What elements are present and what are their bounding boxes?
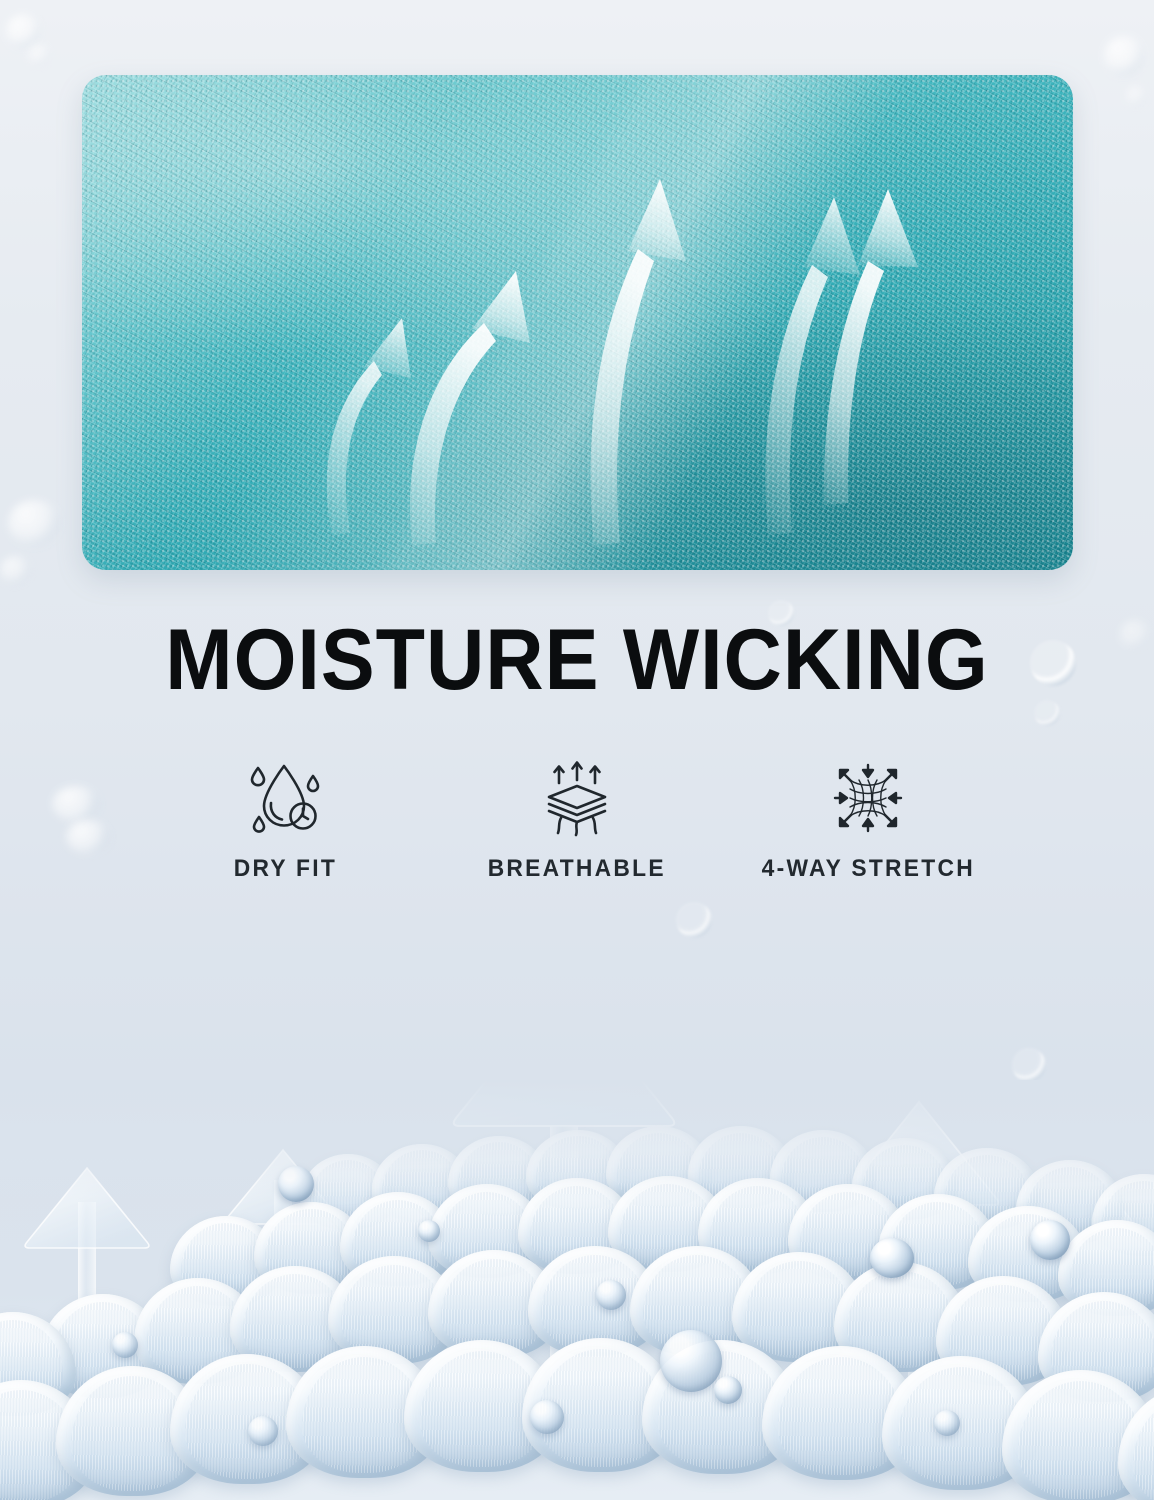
bubble [1120,620,1150,650]
scene-alt-text: 3D macro render of knitted fabric loops … [0,0,1,1]
bubble [1012,1048,1046,1082]
hero-fabric-panel [82,75,1073,570]
wick-arrow-1 [327,318,411,535]
wick-arrow-2 [410,271,530,545]
bubble [66,820,110,854]
bubble [0,556,30,584]
feature-row: DRY FIT BREATHABLE [140,755,1014,883]
water-droplet [596,1280,626,1310]
feature-breathable[interactable]: BREATHABLE [431,755,722,883]
water-droplet [418,1220,440,1242]
water-droplets [0,1080,1154,1500]
wick-arrow-3 [591,179,686,545]
breathable-layers-icon [535,755,619,841]
bubble [8,500,60,546]
feature-label: DRY FIT [234,855,337,883]
water-droplet [660,1330,722,1392]
feature-label: 4-WAY STRETCH [762,855,975,883]
hero-alt-text: Close-up of teal knit performance fabric… [0,0,1,1]
feature-four-way-stretch[interactable]: 4-WAY STRETCH [723,755,1014,883]
water-droplet [934,1410,960,1436]
water-droplet [278,1166,314,1202]
water-droplet [714,1376,742,1404]
bubble [52,786,100,822]
bubble [6,14,40,48]
water-droplet [248,1416,278,1446]
water-droplet [112,1332,138,1358]
water-droplet [530,1400,564,1434]
water-droplet [1030,1220,1070,1260]
feature-label: BREATHABLE [488,855,666,883]
infographic-stage: MOISTURE WICKING DRY FIT [0,0,1154,1500]
bubble [1126,86,1146,106]
water-droplet-timer-icon [244,755,328,841]
bubble [1104,36,1144,76]
bubble [28,44,50,66]
page-title: MOISTURE WICKING [35,614,1120,706]
moisture-wicking-arrows [82,75,1073,570]
four-way-stretch-mesh-icon [826,755,910,841]
bubble [676,902,712,938]
knit-fabric-macro [0,1080,1154,1500]
water-droplet [870,1238,914,1278]
feature-dry-fit[interactable]: DRY FIT [140,755,431,883]
